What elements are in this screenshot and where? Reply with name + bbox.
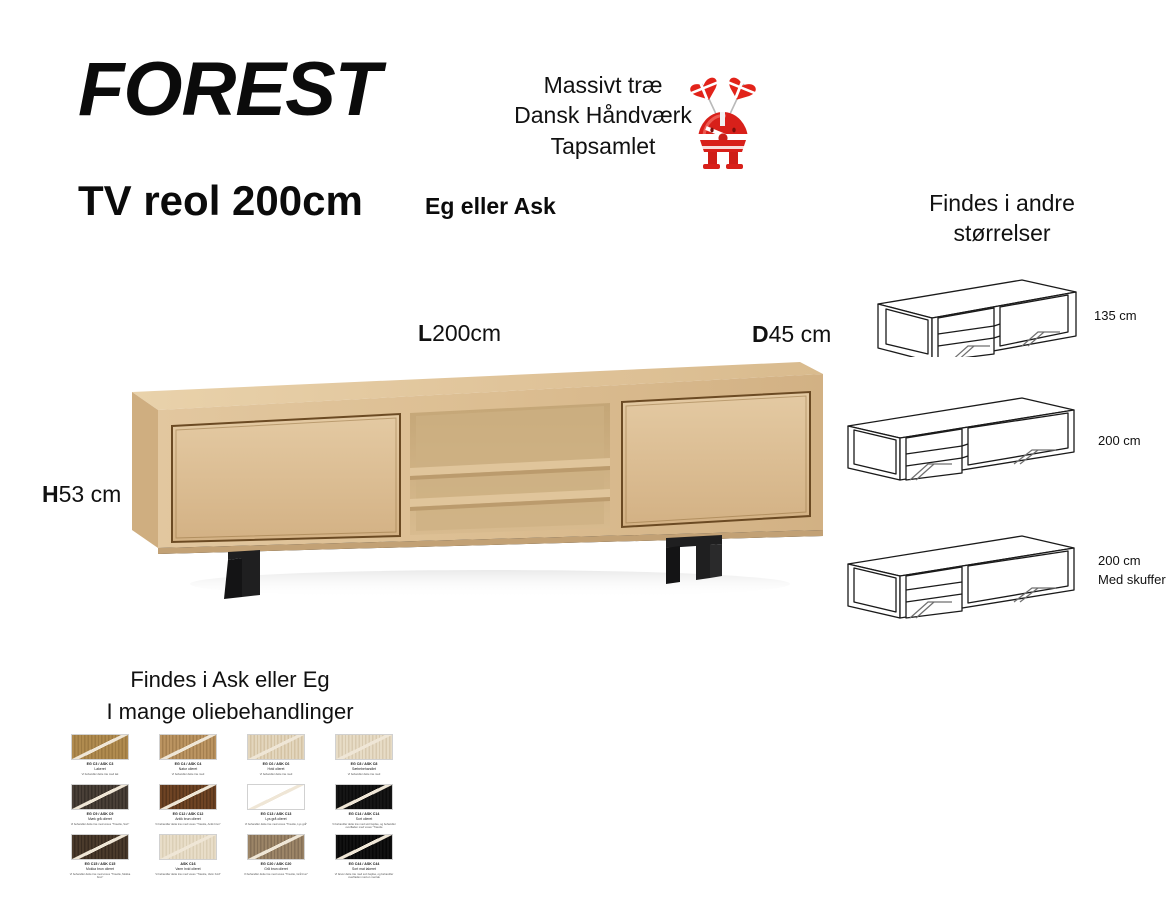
swatch-item[interactable]: EG C9 / ASK C9Mørk grå olieretVi behandl… <box>62 784 138 834</box>
swatch-diagonal-stripe <box>335 784 393 810</box>
swatch-chip[interactable] <box>71 734 129 760</box>
swatch-item[interactable]: EG C15 / ASK C15Mokka brun olieretVi beh… <box>62 834 138 884</box>
swatch-item[interactable]: EG C4 / ASK C4Natur olieretVi behandler … <box>150 734 226 784</box>
swatch-chip[interactable] <box>159 784 217 810</box>
swatch-name: Lakeret <box>94 767 105 771</box>
swatch-name: Varm hvid olieret <box>175 867 200 871</box>
swatch-diagonal-stripe <box>247 734 305 760</box>
variant-200-drawers-drawing <box>846 522 1086 627</box>
swatch-chip[interactable] <box>159 734 217 760</box>
claim-line-2: Dansk Håndværk <box>498 100 708 130</box>
swatch-diagonal-stripe <box>71 784 129 810</box>
dimension-length: L200cm <box>418 320 501 347</box>
swatch-description: Vi farver dette træ med sort bejdse, og … <box>331 873 397 880</box>
swatch-diagonal-stripe <box>159 784 217 810</box>
claim-line-3: Tapsamlet <box>498 131 708 161</box>
swatch-description: Vi behandler dette træ med voxes "Træoli… <box>67 873 133 880</box>
swatch-name: Antik brun olieret <box>175 817 200 821</box>
swatch-description: Vi behandler dette træ med voxes "Træoli… <box>155 873 221 877</box>
swatch-chip[interactable] <box>335 834 393 860</box>
swatch-item[interactable]: ASK C16Varm hvid olieretVi behandler det… <box>150 834 226 884</box>
swatch-description: Vi behandler dette træ med voxes "Træoli… <box>155 823 221 827</box>
swatch-name: Sort mat lakeret <box>352 867 376 871</box>
swatch-description: Vi behandler dette træ med voxes "Træoli… <box>243 823 309 827</box>
swatch-chip[interactable] <box>71 834 129 860</box>
swatch-chip[interactable] <box>335 734 393 760</box>
variants-heading: Findes i andre størrelser <box>862 188 1142 249</box>
swatch-diagonal-stripe <box>159 834 217 860</box>
variant-135-caption: 135 cm <box>1094 307 1137 326</box>
variants-heading-line-2: størrelser <box>862 218 1142 248</box>
variant-200-drawers-caption: 200 cm Med skuffer <box>1098 552 1166 590</box>
swatch-heading-line-1: Findes i Ask eller Eg <box>60 664 400 696</box>
swatch-name: Mokka brun olieret <box>86 867 114 871</box>
dimension-depth-value: 45 cm <box>769 321 832 347</box>
swatch-description: Vi behandler dette træ med sort bejdse, … <box>331 823 397 830</box>
swatch-chip[interactable] <box>71 784 129 810</box>
dimension-length-value: 200cm <box>432 320 501 346</box>
product-subtitle: Eg eller Ask <box>425 195 556 218</box>
swatch-item[interactable]: EG C44 / ASK C44Sort mat lakeretVi farve… <box>326 834 402 884</box>
hoptimist-mascot-icon <box>686 62 760 170</box>
swatch-name: Lys grå olieret <box>265 817 286 821</box>
dimension-depth: D45 cm <box>752 321 831 348</box>
page-title: TV reol 200cm <box>78 180 363 222</box>
swatch-item[interactable]: EG C20 / ASK C20Grå brun olieretVi behan… <box>238 834 314 884</box>
brand-title: FOREST <box>78 52 380 128</box>
variant-200-caption: 200 cm <box>1098 432 1141 451</box>
swatch-name: Mørk grå olieret <box>88 817 112 821</box>
swatch-chip[interactable] <box>247 834 305 860</box>
swatch-chip[interactable] <box>247 734 305 760</box>
swatch-description: Vi behandler dette træ med <box>155 773 221 777</box>
swatch-diagonal-stripe <box>71 734 129 760</box>
swatch-diagonal-stripe <box>247 834 305 860</box>
swatch-name: Grå brun olieret <box>264 867 288 871</box>
claim-line-1: Massivt træ <box>498 70 708 100</box>
swatch-diagonal-stripe <box>159 734 217 760</box>
swatch-heading-line-2: I mange oliebehandlinger <box>60 696 400 728</box>
dimension-height-prefix: H <box>42 481 59 507</box>
swatch-description: Vi behandler dette træ med voxes "Træoli… <box>67 823 133 827</box>
swatch-description: Vi behandler dette træ med lak <box>67 773 133 777</box>
swatch-grid: EG C3 / ASK C3LakeretVi behandler dette … <box>62 734 402 884</box>
swatch-description: Vi behandler dette træ med <box>331 773 397 777</box>
swatch-name: Hvid olieret <box>268 767 285 771</box>
swatch-chip[interactable] <box>247 784 305 810</box>
swatch-diagonal-stripe <box>247 784 305 810</box>
swatch-name: Sæbebehandlet <box>352 767 376 771</box>
tv-cabinet-photo <box>110 352 835 607</box>
swatch-item[interactable]: EG C3 / ASK C3LakeretVi behandler dette … <box>62 734 138 784</box>
swatch-name: Natur olieret <box>179 767 197 771</box>
swatch-description: Vi behandler dette træ med <box>243 773 309 777</box>
swatch-heading: Findes i Ask eller Eg I mange oliebehand… <box>60 664 400 728</box>
variant-200-drawing <box>846 388 1086 488</box>
swatch-item[interactable]: EG C8 / ASK C8SæbebehandletVi behandler … <box>326 734 402 784</box>
dimension-length-prefix: L <box>418 320 432 346</box>
swatch-name: Sort olieret <box>356 817 372 821</box>
variant-135-drawing <box>872 262 1082 362</box>
dimension-depth-prefix: D <box>752 321 769 347</box>
claims-block: Massivt træ Dansk Håndværk Tapsamlet <box>498 70 708 161</box>
variants-heading-line-1: Findes i andre <box>862 188 1142 218</box>
swatch-item[interactable]: EG C6 / ASK C6Hvid olieretVi behandler d… <box>238 734 314 784</box>
swatch-chip[interactable] <box>159 834 217 860</box>
swatch-diagonal-stripe <box>335 734 393 760</box>
swatch-chip[interactable] <box>335 784 393 810</box>
swatch-diagonal-stripe <box>335 834 393 860</box>
swatch-diagonal-stripe <box>71 834 129 860</box>
swatch-item[interactable]: EG C13 / ASK C13Lys grå olieretVi behand… <box>238 784 314 834</box>
swatch-description: Vi behandler dette træ med voxes "Træoli… <box>243 873 309 877</box>
swatch-item[interactable]: EG C12 / ASK C12Antik brun olieretVi beh… <box>150 784 226 834</box>
swatch-item[interactable]: EG C14 / ASK C14Sort olieretVi behandler… <box>326 784 402 834</box>
